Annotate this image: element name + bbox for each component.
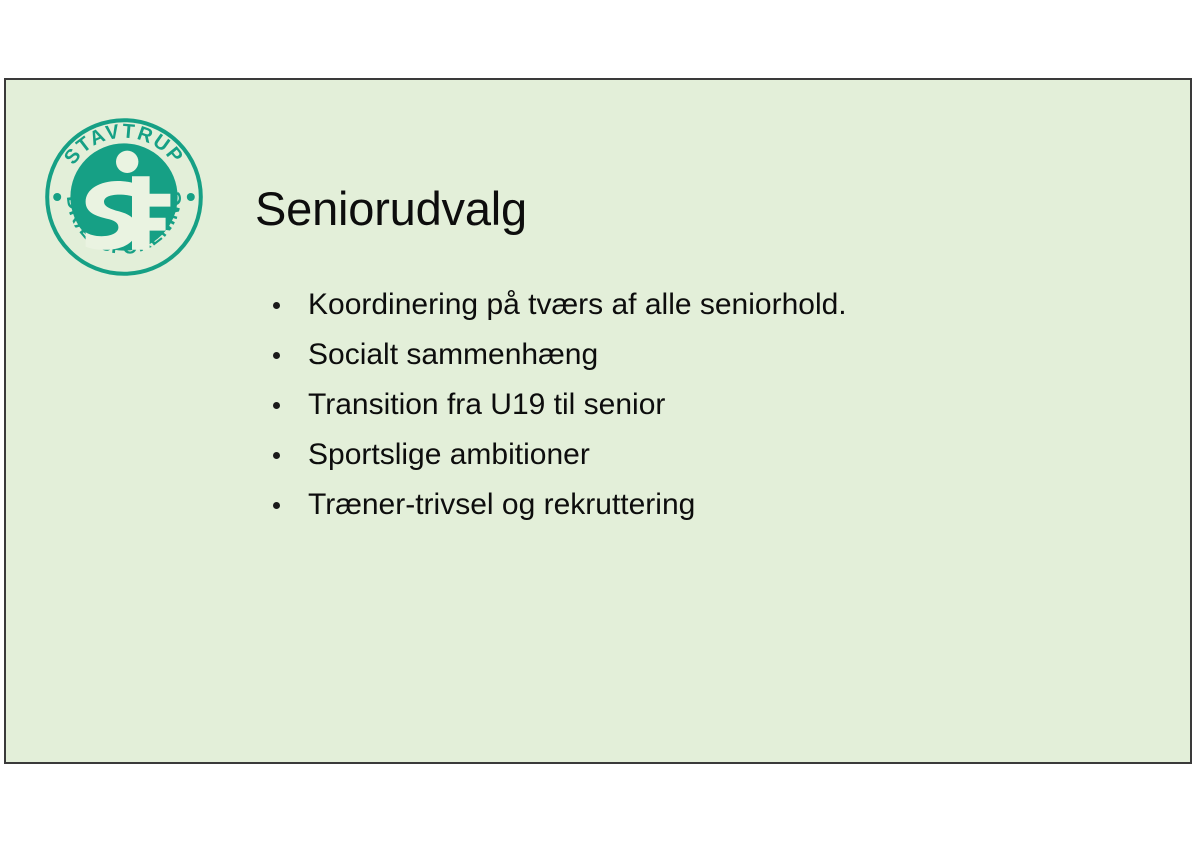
logo-separator-dot-left xyxy=(53,193,61,201)
list-item-label: Socialt sammenhæng xyxy=(308,330,598,380)
list-item-label: Træner-trivsel og rekruttering xyxy=(308,480,695,530)
list-item: Socialt sammenhæng xyxy=(268,330,1148,380)
bullet-dot-icon xyxy=(273,302,280,309)
list-item-label: Transition fra U19 til senior xyxy=(308,380,665,430)
list-item: Koordinering på tværs af alle seniorhold… xyxy=(268,280,1148,330)
bullet-dot-icon xyxy=(273,502,280,509)
list-item: Sportslige ambitioner xyxy=(268,430,1148,480)
bullet-list: Koordinering på tværs af alle seniorhold… xyxy=(268,280,1148,530)
list-item-label: Koordinering på tværs af alle seniorhold… xyxy=(308,280,847,330)
logo-runner-head xyxy=(116,151,138,173)
bullet-dot-icon xyxy=(273,352,280,359)
bullet-dot-icon xyxy=(273,402,280,409)
slide-canvas: STAVTRUP IDRÆTSFORENING Seniorudvalg Koo… xyxy=(4,78,1192,764)
stavtrup-idraetsforening-logo-icon: STAVTRUP IDRÆTSFORENING xyxy=(44,117,204,277)
bullet-dot-icon xyxy=(273,452,280,459)
list-item: Transition fra U19 til senior xyxy=(268,380,1148,430)
list-item-label: Sportslige ambitioner xyxy=(308,430,590,480)
list-item: Træner-trivsel og rekruttering xyxy=(268,480,1148,530)
logo-separator-dot-right xyxy=(187,193,195,201)
club-logo: STAVTRUP IDRÆTSFORENING xyxy=(44,117,204,277)
page-title: Seniorudvalg xyxy=(255,184,1135,235)
